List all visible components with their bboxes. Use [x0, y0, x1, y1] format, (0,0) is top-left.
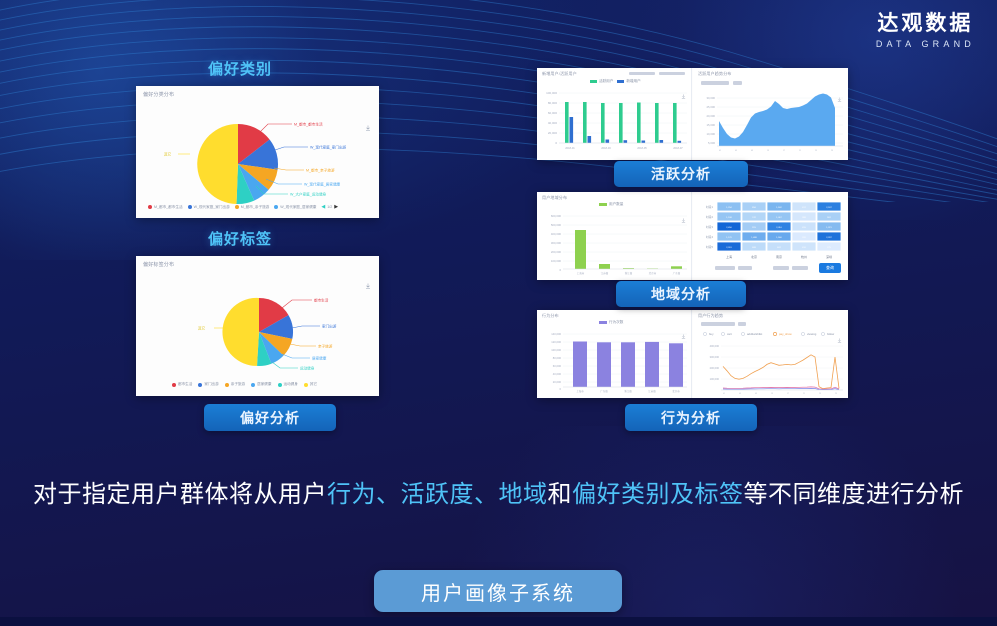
- svg-text:25: 25: [819, 393, 821, 395]
- svg-text:1,502: 1,502: [776, 207, 782, 209]
- svg-text:1,176: 1,176: [726, 237, 732, 239]
- svg-text:20,000: 20,000: [553, 380, 562, 384]
- svg-text:13: 13: [767, 150, 769, 152]
- legend-item[interactable]: M_都市_亲子旅游: [235, 205, 270, 210]
- chart-title: 偏好分类分布: [143, 91, 174, 98]
- brand-name-cn: 达观数据: [876, 12, 975, 36]
- brand-name-en: DATA GRAND: [876, 39, 975, 49]
- legend-item[interactable]: W_现代家庭_家门出游: [188, 205, 230, 210]
- svg-text:15,000: 15,000: [706, 123, 715, 127]
- mini-region-heatmap[interactable]: 时段1时段2 时段3时段4 时段5 1,2348561,5024122,187 …: [693, 192, 848, 280]
- svg-text:广东省: 广东省: [600, 389, 608, 393]
- svg-text:5,000: 5,000: [708, 141, 715, 145]
- svg-text:200,000: 200,000: [710, 366, 720, 370]
- mini-region-bar[interactable]: 用户地域分布 用户数量 600,000500,000 400,0003: [537, 192, 692, 280]
- svg-text:W_大户家庭_运动健身: W_大户家庭_运动健身: [290, 191, 327, 196]
- svg-text:1,108: 1,108: [726, 217, 732, 219]
- svg-text:29: 29: [831, 150, 833, 152]
- area-chart: 30,00025,000 20,00015,000 10,0005,000 01…: [693, 92, 848, 160]
- chart-title: 行为分布: [542, 313, 559, 319]
- svg-text:1,488: 1,488: [751, 237, 757, 239]
- caption-highlight2: 偏好类别及标签: [572, 481, 744, 508]
- svg-text:100,000: 100,000: [546, 91, 557, 95]
- legend-pager[interactable]: ◀ 1/2 ▶: [321, 204, 338, 210]
- svg-text:亲子旅游: 亲子旅游: [318, 343, 333, 348]
- svg-text:2,187: 2,187: [826, 207, 832, 209]
- svg-text:60,000: 60,000: [548, 111, 558, 115]
- download-icon[interactable]: [681, 86, 686, 91]
- filter-field-4[interactable]: [792, 266, 808, 270]
- svg-text:300,000: 300,000: [551, 241, 562, 245]
- filter-field-3[interactable]: [773, 266, 789, 270]
- svg-text:21: 21: [799, 150, 801, 152]
- card-pref-tag-pie[interactable]: 偏好标签分布 都市生活 家门出游: [136, 256, 379, 396]
- legend-item[interactable]: 运动健身: [278, 382, 298, 387]
- svg-text:其它: 其它: [164, 151, 172, 156]
- svg-text:W_现代家庭_家门出游: W_现代家庭_家门出游: [310, 144, 347, 149]
- card-region-analysis[interactable]: 用户地域分布 用户数量 600,000500,000 400,0003: [537, 192, 848, 280]
- query-button[interactable]: 查询: [819, 263, 841, 273]
- chart-legend: 都市生活 家门出游 亲子旅游 居家健康 运动健身 其它: [172, 382, 317, 387]
- chart-legend: 行为次数: [599, 320, 623, 325]
- pill-region-analysis[interactable]: 地域分析: [616, 281, 746, 307]
- svg-text:buy: buy: [709, 332, 714, 336]
- svg-text:北京市: 北京市: [672, 389, 680, 393]
- svg-text:400,000: 400,000: [710, 344, 720, 348]
- range-selector[interactable]: [701, 81, 729, 85]
- legend-item[interactable]: W_现代家庭_居家健康: [274, 205, 316, 210]
- mini-behavior-bar[interactable]: 行为分布 行为次数 140,000120,000: [537, 310, 692, 398]
- svg-text:时段1: 时段1: [706, 205, 714, 209]
- legend-item[interactable]: 用户数量: [599, 202, 623, 207]
- mini-behavior-line[interactable]: 用户行为趋势 buy cart add2wishlist pay_show vi…: [693, 310, 848, 398]
- legend-item[interactable]: 行为次数: [599, 320, 623, 325]
- legend-item[interactable]: 其它: [304, 382, 317, 387]
- svg-text:江苏省: 江苏省: [601, 271, 609, 275]
- svg-text:上海市: 上海市: [577, 271, 585, 275]
- heading-pref-category: 偏好类别: [208, 58, 272, 79]
- card-pref-category-pie[interactable]: 偏好分类分布 M_都市_都市生活 W: [136, 86, 379, 218]
- chart-legend: 活跃用户 新增用户: [590, 79, 641, 84]
- svg-text:2,016: 2,016: [776, 227, 782, 229]
- heading-pref-tag: 偏好标签: [208, 228, 272, 249]
- svg-text:杭州: 杭州: [801, 254, 807, 259]
- svg-text:1,560: 1,560: [776, 237, 782, 239]
- svg-text:2,450: 2,450: [726, 227, 732, 229]
- svg-text:09: 09: [751, 150, 753, 152]
- svg-text:40,000: 40,000: [553, 372, 562, 376]
- date-filter-2[interactable]: [659, 72, 685, 75]
- mini-active-bar[interactable]: 新增用户/活跃用户 活跃用户 新增用户 100,00080,000 60: [537, 68, 692, 160]
- svg-text:add2wishlist: add2wishlist: [747, 332, 762, 336]
- svg-text:2018-03: 2018-03: [601, 146, 611, 150]
- svg-text:100,000: 100,000: [551, 259, 562, 263]
- pill-active-analysis[interactable]: 活跃分析: [614, 161, 748, 187]
- card-active-analysis[interactable]: 新增用户/活跃用户 活跃用户 新增用户 100,00080,000 60: [537, 68, 848, 160]
- svg-text:时段5: 时段5: [706, 245, 714, 249]
- pie-labels: M_都市_都市生活 W_现代家庭_家门出游 M_都市_亲子旅游 W_现代家庭_居…: [232, 116, 372, 208]
- svg-text:300,000: 300,000: [710, 355, 720, 359]
- svg-text:25: 25: [815, 150, 817, 152]
- bar-chart: 140,000120,000 100,00080,000 60,00040,00…: [537, 328, 692, 398]
- heatmap: 时段1时段2 时段3时段4 时段5 1,2348561,5024122,187 …: [693, 196, 848, 262]
- svg-text:25,000: 25,000: [706, 105, 715, 109]
- legend-item[interactable]: 居家健康: [251, 382, 271, 387]
- mini-active-area[interactable]: 活跃用户趋势分布 30,00025,000 20,00015,000: [693, 68, 848, 160]
- caption-seg2: 和: [548, 481, 573, 508]
- bar-chart: 100,00080,000 60,00040,000 20,0000 2018-…: [537, 86, 692, 160]
- svg-text:W_现代家庭_居家健康: W_现代家庭_居家健康: [304, 181, 341, 186]
- chart-title: 活跃用户趋势分布: [698, 71, 732, 77]
- svg-text:01: 01: [723, 393, 725, 395]
- svg-text:上海市: 上海市: [576, 389, 584, 393]
- svg-text:120,000: 120,000: [551, 340, 561, 344]
- svg-text:2018-01: 2018-01: [565, 146, 575, 150]
- svg-text:30,000: 30,000: [706, 96, 715, 100]
- svg-text:0: 0: [555, 141, 557, 145]
- legend-item[interactable]: 家门出游: [198, 382, 218, 387]
- caption-seg3: 等不同维度进行分析: [744, 481, 965, 508]
- svg-text:居家健康: 居家健康: [312, 355, 327, 360]
- svg-text:2018-07: 2018-07: [673, 146, 683, 150]
- svg-text:17: 17: [783, 150, 785, 152]
- svg-text:2,337: 2,337: [826, 237, 832, 239]
- card-behavior-analysis[interactable]: 行为分布 行为次数 140,000120,000: [537, 310, 848, 398]
- svg-text:浙江省: 浙江省: [625, 271, 633, 275]
- svg-text:10,000: 10,000: [706, 132, 715, 136]
- svg-text:40,000: 40,000: [548, 121, 558, 125]
- svg-text:400,000: 400,000: [551, 232, 562, 236]
- svg-text:2018-05: 2018-05: [637, 146, 647, 150]
- svg-text:1,234: 1,234: [726, 207, 732, 209]
- svg-text:05: 05: [735, 150, 737, 152]
- svg-text:100,000: 100,000: [551, 348, 561, 352]
- filter-toggle[interactable]: [738, 322, 746, 326]
- filter-input[interactable]: [701, 322, 735, 326]
- chart-legend: M_都市_都市生活 W_现代家庭_家门出游 M_都市_亲子旅游 W_现代家庭_居…: [148, 204, 338, 210]
- svg-text:follow: follow: [827, 332, 835, 336]
- chart-title: 新增用户/活跃用户: [542, 71, 577, 77]
- svg-text:60,000: 60,000: [553, 364, 562, 368]
- svg-text:80,000: 80,000: [548, 101, 558, 105]
- slide-canvas: 达观数据 DATA GRAND 偏好类别 偏好标签 偏好分类分布: [0, 0, 997, 626]
- svg-text:pay_show: pay_show: [779, 332, 793, 336]
- svg-text:09: 09: [755, 393, 757, 395]
- svg-text:0: 0: [560, 387, 562, 391]
- date-filter-1[interactable]: [629, 72, 655, 75]
- svg-text:北京: 北京: [751, 254, 757, 259]
- svg-text:13: 13: [771, 393, 773, 395]
- svg-text:80,000: 80,000: [553, 356, 562, 360]
- svg-text:深圳: 深圳: [826, 254, 832, 259]
- caption-seg1: 对于指定用户群体将从用户: [33, 481, 327, 508]
- svg-text:0: 0: [559, 268, 561, 272]
- bar-chart: 600,000500,000 400,000300,000 200,000100…: [537, 210, 692, 280]
- bottom-bar: [0, 617, 997, 626]
- svg-text:17: 17: [787, 393, 789, 395]
- svg-text:01: 01: [719, 150, 721, 152]
- chart-legend: buy cart add2wishlist pay_show viewing f…: [693, 329, 848, 341]
- chart-title: 偏好标签分布: [143, 261, 174, 268]
- svg-text:05: 05: [739, 393, 741, 395]
- brand-logo: 达观数据 DATA GRAND: [876, 12, 975, 49]
- svg-text:cart: cart: [727, 332, 732, 336]
- svg-text:M_都市_亲子旅游: M_都市_亲子旅游: [306, 167, 335, 172]
- svg-text:M_都市_都市生活: M_都市_都市生活: [294, 121, 323, 126]
- svg-text:140,000: 140,000: [551, 332, 561, 336]
- range-toggle[interactable]: [733, 81, 742, 85]
- legend-item[interactable]: 活跃用户: [590, 79, 613, 84]
- svg-text:时段2: 时段2: [706, 215, 714, 219]
- svg-text:500,000: 500,000: [551, 223, 562, 227]
- pie-label-other: 其它: [186, 320, 230, 340]
- chart-legend: 用户数量: [599, 202, 623, 207]
- pie-label-other: 其它: [154, 146, 194, 166]
- svg-text:时段3: 时段3: [706, 225, 714, 229]
- svg-text:南京: 南京: [776, 254, 782, 259]
- caption-text: 对于指定用户群体将从用户行为、活跃度、地域和偏好类别及标签等不同维度进行分析: [0, 476, 997, 514]
- svg-text:20,000: 20,000: [706, 114, 715, 118]
- svg-text:都市生活: 都市生活: [314, 297, 329, 302]
- svg-text:其它: 其它: [198, 325, 206, 330]
- svg-text:浙江省: 浙江省: [624, 389, 632, 393]
- download-icon[interactable]: [365, 276, 371, 282]
- line-chart: 400,000300,000 200,000100,000 010509 131…: [693, 342, 848, 398]
- svg-text:100,000: 100,000: [710, 377, 720, 381]
- caption-highlight1: 行为、活跃度、地域: [327, 481, 548, 508]
- chart-title: 用户地域分布: [542, 195, 567, 201]
- svg-text:viewing: viewing: [807, 332, 817, 336]
- svg-text:21: 21: [803, 393, 805, 395]
- svg-text:时段4: 时段4: [706, 235, 714, 239]
- subsystem-button[interactable]: 用户画像子系统: [374, 570, 622, 612]
- legend-item[interactable]: 新增用户: [617, 79, 640, 84]
- svg-text:北京市: 北京市: [649, 271, 657, 275]
- svg-text:200,000: 200,000: [551, 250, 562, 254]
- pie-labels: 都市生活 家门出游 亲子旅游 居家健康 运动健身: [254, 292, 374, 378]
- legend-item[interactable]: 都市生活: [172, 382, 192, 387]
- legend-item[interactable]: M_都市_都市生活: [148, 205, 183, 210]
- svg-text:1,321: 1,321: [826, 227, 832, 229]
- chart-title: 用户行为趋势: [698, 313, 723, 319]
- svg-text:广东省: 广东省: [673, 271, 681, 275]
- legend-item[interactable]: 亲子旅游: [225, 382, 245, 387]
- svg-text:家门出游: 家门出游: [322, 323, 337, 328]
- pill-preference-analysis[interactable]: 偏好分析: [204, 404, 336, 431]
- svg-text:江苏省: 江苏省: [648, 389, 656, 393]
- pill-behavior-analysis[interactable]: 行为分析: [625, 404, 757, 431]
- svg-text:2,301: 2,301: [726, 247, 732, 249]
- filter-field-1[interactable]: [715, 266, 735, 270]
- svg-text:1,067: 1,067: [776, 217, 782, 219]
- filter-field-2[interactable]: [738, 266, 752, 270]
- svg-text:运动健身: 运动健身: [300, 365, 315, 370]
- svg-text:29: 29: [835, 393, 837, 395]
- svg-text:上海: 上海: [726, 254, 732, 259]
- download-icon[interactable]: [837, 330, 842, 335]
- svg-text:20,000: 20,000: [548, 131, 558, 135]
- svg-text:600,000: 600,000: [551, 214, 562, 218]
